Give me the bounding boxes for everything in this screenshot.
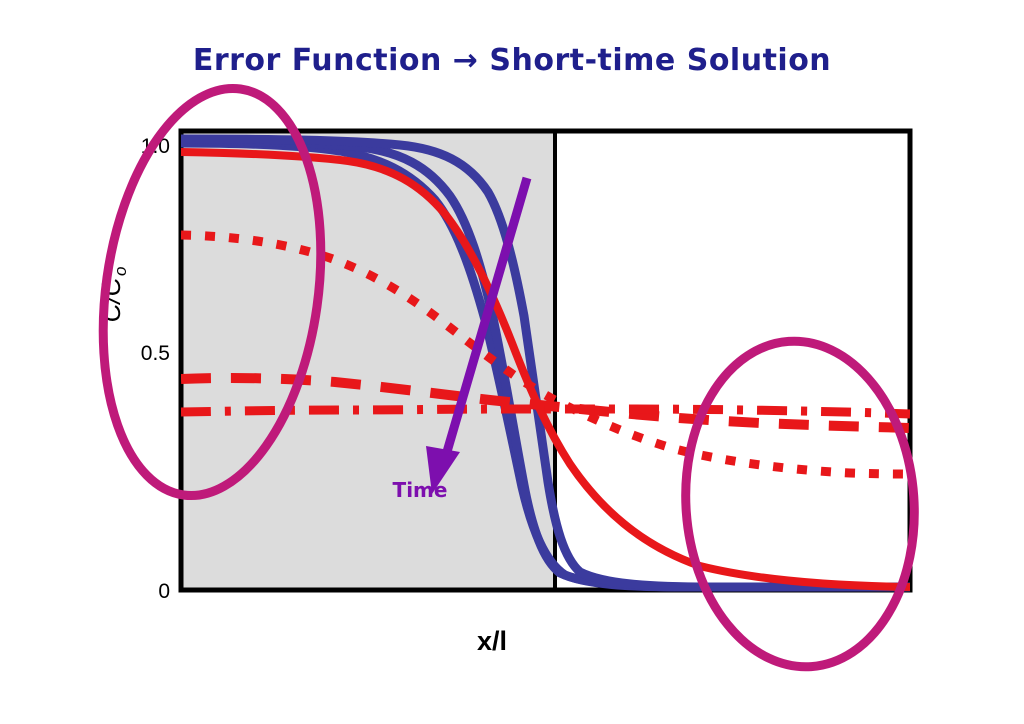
page-title: Error Function → Short-time Solution	[193, 43, 831, 78]
slide-canvas: Error Function → Short-time Solution	[0, 0, 1024, 724]
x-axis-label: x/l	[477, 626, 507, 656]
ytick-label-0: 0	[158, 580, 170, 603]
plot-area	[181, 131, 910, 590]
time-annotation-label: Time	[393, 478, 448, 502]
chart-figure: Error Function → Short-time Solution	[0, 0, 1024, 724]
y-axis-label-subscript: o	[111, 267, 130, 276]
ytick-label-05: 0.5	[141, 342, 170, 365]
highlight-ellipse-right	[675, 333, 925, 674]
